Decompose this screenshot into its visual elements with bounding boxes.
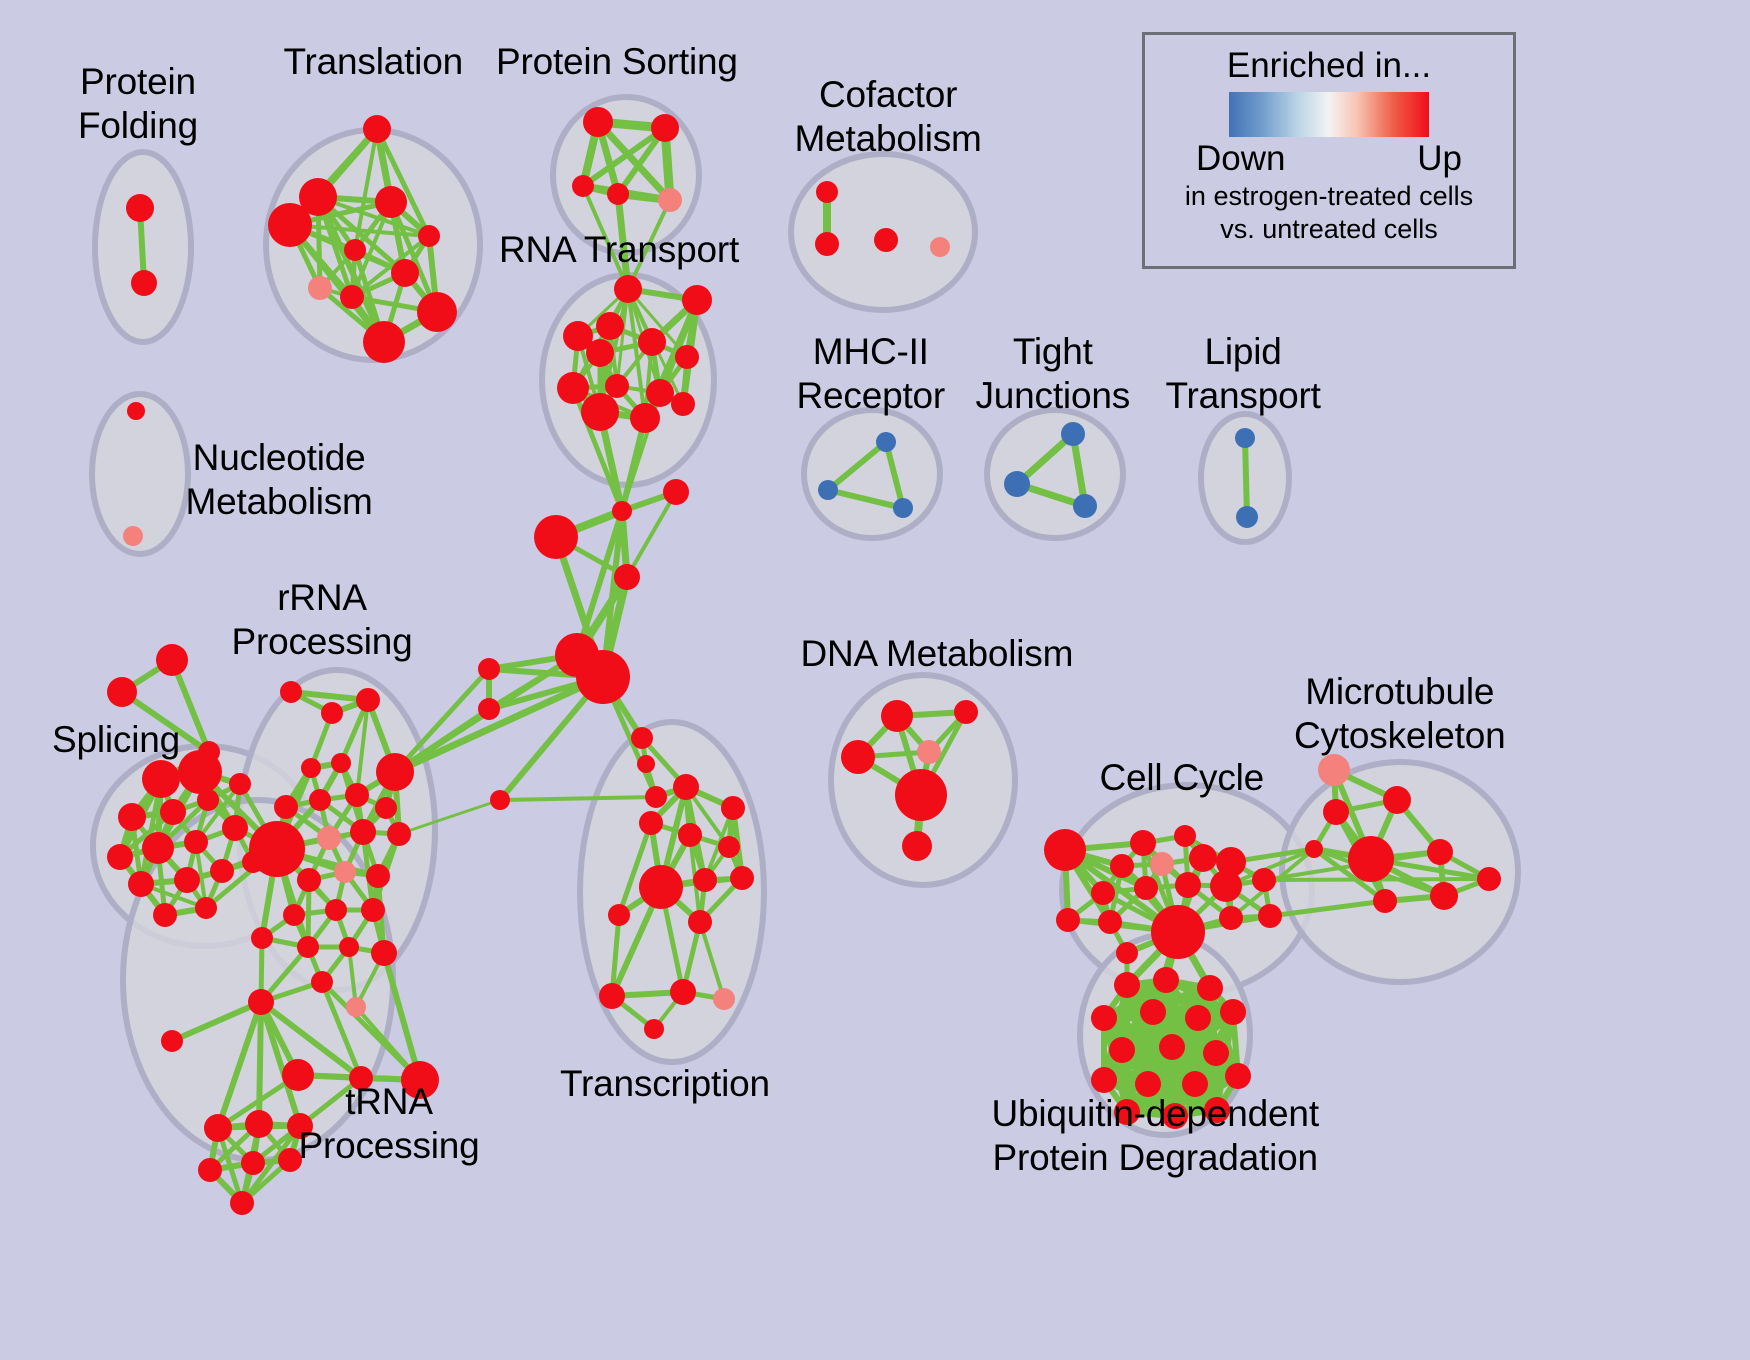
enrichment-map-figure: ProteinFoldingTranslationProtein Sorting… — [0, 0, 1750, 1360]
cluster-label-line: rRNA — [232, 576, 413, 620]
network-node[interactable] — [630, 403, 660, 433]
network-node[interactable] — [841, 740, 875, 774]
network-node[interactable] — [184, 830, 208, 854]
network-node[interactable] — [297, 936, 319, 958]
cluster-label-line: tRNA — [299, 1080, 480, 1124]
cluster-label-line: MHC-II — [797, 330, 946, 374]
cluster-label: Ubiquitin-dependentProtein Degradation — [992, 1092, 1319, 1180]
cluster-label-line: Lipid — [1166, 330, 1321, 374]
network-node[interactable] — [1153, 967, 1179, 993]
network-node[interactable] — [1150, 852, 1174, 876]
network-node[interactable] — [339, 937, 359, 957]
network-node[interactable] — [128, 871, 154, 897]
network-node[interactable] — [673, 774, 699, 800]
network-node[interactable] — [418, 225, 440, 247]
network-node[interactable] — [160, 799, 186, 825]
network-node[interactable] — [1236, 506, 1258, 528]
network-node[interactable] — [366, 864, 390, 888]
network-node[interactable] — [614, 564, 640, 590]
network-node[interactable] — [596, 312, 624, 340]
network-node[interactable] — [675, 345, 699, 369]
network-node[interactable] — [874, 228, 898, 252]
network-node[interactable] — [1427, 839, 1453, 865]
network-node[interactable] — [331, 753, 351, 773]
network-node[interactable] — [345, 783, 369, 807]
network-node[interactable] — [1203, 1040, 1229, 1066]
network-node[interactable] — [274, 795, 298, 819]
network-node[interactable] — [229, 773, 251, 795]
network-node[interactable] — [1305, 840, 1323, 858]
network-node[interactable] — [638, 328, 666, 356]
network-node[interactable] — [317, 826, 341, 850]
network-node[interactable] — [1185, 1005, 1211, 1031]
network-node[interactable] — [1477, 867, 1501, 891]
cluster-label-line: Nucleotide — [186, 436, 373, 480]
network-node[interactable] — [930, 237, 950, 257]
network-node[interactable] — [1130, 830, 1156, 856]
network-node[interactable] — [107, 677, 137, 707]
network-edge[interactable] — [395, 677, 603, 772]
network-node[interactable] — [646, 379, 674, 407]
network-node[interactable] — [583, 107, 613, 137]
network-node[interactable] — [651, 114, 679, 142]
network-node[interactable] — [309, 789, 331, 811]
network-node[interactable] — [376, 753, 414, 791]
cluster-label-line: DNA Metabolism — [801, 632, 1074, 676]
network-node[interactable] — [123, 526, 143, 546]
network-node[interactable] — [417, 292, 457, 332]
network-node[interactable] — [816, 181, 838, 203]
cluster-label-line: Protein Degradation — [992, 1136, 1319, 1180]
network-node[interactable] — [954, 700, 978, 724]
network-node[interactable] — [1235, 428, 1255, 448]
legend-title: Enriched in... — [1227, 46, 1431, 86]
cluster-label-line: Transport — [1166, 374, 1321, 418]
network-node[interactable] — [490, 790, 510, 810]
network-node[interactable] — [391, 259, 419, 287]
cluster-label-line: Protein — [78, 60, 198, 104]
network-node[interactable] — [586, 339, 614, 367]
cluster-label: MHC-IIReceptor — [797, 330, 946, 418]
network-node[interactable] — [818, 480, 838, 500]
network-node[interactable] — [1151, 905, 1205, 959]
network-node[interactable] — [721, 796, 745, 820]
network-node[interactable] — [283, 904, 305, 926]
cluster-label: rRNAProcessing — [232, 576, 413, 664]
network-node[interactable] — [107, 844, 133, 870]
network-node[interactable] — [902, 831, 932, 861]
network-node[interactable] — [1210, 870, 1242, 902]
network-node[interactable] — [1258, 904, 1282, 928]
cluster-label-line: Translation — [284, 40, 463, 84]
legend-subtitle-line2: vs. untreated cells — [1185, 213, 1473, 246]
network-node[interactable] — [1348, 836, 1394, 882]
network-node[interactable] — [321, 702, 343, 724]
network-node[interactable] — [599, 983, 625, 1009]
network-node[interactable] — [713, 988, 735, 1010]
network-node[interactable] — [881, 700, 913, 732]
cluster-label-line: Transcription — [560, 1062, 770, 1106]
cluster-label-line: Processing — [299, 1124, 480, 1168]
network-node[interactable] — [639, 865, 683, 909]
cluster-label: Cell Cycle — [1100, 756, 1265, 800]
network-node[interactable] — [688, 910, 712, 934]
network-node[interactable] — [605, 374, 629, 398]
network-node[interactable] — [325, 899, 347, 921]
cluster-label: DNA Metabolism — [801, 632, 1074, 676]
network-node[interactable] — [195, 897, 217, 919]
network-node[interactable] — [1134, 876, 1158, 900]
network-node[interactable] — [142, 832, 174, 864]
cluster-label-line: Processing — [232, 620, 413, 664]
cluster-label-line: RNA Transport — [499, 228, 739, 272]
network-node[interactable] — [1373, 889, 1397, 913]
network-node[interactable] — [639, 811, 663, 835]
network-node[interactable] — [210, 859, 234, 883]
network-node[interactable] — [534, 515, 578, 559]
cluster-label: MicrotubuleCytoskeleton — [1294, 670, 1506, 758]
network-node[interactable] — [204, 1114, 232, 1142]
cluster-label-line: Splicing — [52, 718, 180, 762]
network-node[interactable] — [375, 797, 397, 819]
network-node[interactable] — [1225, 1063, 1251, 1089]
cluster-hull[interactable] — [987, 410, 1123, 538]
network-node[interactable] — [230, 1191, 254, 1215]
network-node[interactable] — [1220, 999, 1246, 1025]
cluster-label-line: Cofactor — [795, 73, 982, 117]
network-node[interactable] — [1430, 882, 1458, 910]
network-node[interactable] — [1061, 422, 1085, 446]
cluster-label-line: Tight — [976, 330, 1131, 374]
network-node[interactable] — [612, 501, 632, 521]
cluster-label-line: Cytoskeleton — [1294, 714, 1506, 758]
network-node[interactable] — [311, 971, 333, 993]
network-node[interactable] — [356, 688, 380, 712]
network-node[interactable] — [126, 194, 154, 222]
network-node[interactable] — [340, 285, 364, 309]
network-node[interactable] — [1004, 471, 1030, 497]
network-node[interactable] — [371, 940, 397, 966]
network-node[interactable] — [142, 760, 180, 798]
network-node[interactable] — [678, 823, 702, 847]
network-node[interactable] — [350, 819, 376, 845]
network-edge[interactable] — [259, 1002, 261, 1124]
network-node[interactable] — [161, 1030, 183, 1052]
network-node[interactable] — [178, 750, 222, 794]
cluster-label: RNA Transport — [499, 228, 739, 272]
network-node[interactable] — [1175, 872, 1201, 898]
network-node[interactable] — [1318, 754, 1350, 786]
network-node[interactable] — [249, 821, 305, 877]
cluster-label-line: Ubiquitin-dependent — [992, 1092, 1319, 1136]
network-node[interactable] — [682, 285, 712, 315]
network-node[interactable] — [1252, 868, 1276, 892]
cluster-label-line: Junctions — [976, 374, 1131, 418]
network-node[interactable] — [658, 188, 682, 212]
color-scale-bar — [1229, 92, 1429, 137]
network-node[interactable] — [280, 681, 302, 703]
network-node[interactable] — [1091, 1005, 1117, 1031]
legend-up-label: Up — [1417, 139, 1462, 179]
network-node[interactable] — [248, 989, 274, 1015]
network-node[interactable] — [1110, 854, 1134, 878]
network-node[interactable] — [363, 321, 405, 363]
network-node[interactable] — [693, 868, 717, 892]
network-node[interactable] — [1073, 494, 1097, 518]
network-node[interactable] — [645, 786, 667, 808]
network-node[interactable] — [730, 866, 754, 890]
network-node[interactable] — [637, 755, 655, 773]
cluster-label-line: Protein Sorting — [496, 40, 738, 84]
network-node[interactable] — [308, 276, 332, 300]
network-node[interactable] — [174, 867, 200, 893]
cluster-label: Protein Sorting — [496, 40, 738, 84]
cluster-label-line: Receptor — [797, 374, 946, 418]
network-node[interactable] — [344, 239, 366, 261]
network-node[interactable] — [245, 1110, 273, 1138]
network-node[interactable] — [581, 393, 619, 431]
legend-panel: Enriched in... Down Up in estrogen-treat… — [1142, 32, 1516, 269]
cluster-hull[interactable] — [804, 410, 940, 538]
network-node[interactable] — [631, 727, 653, 749]
cluster-label: LipidTransport — [1166, 330, 1321, 418]
network-node[interactable] — [363, 115, 391, 143]
network-node[interactable] — [197, 789, 219, 811]
legend-subtitle: in estrogen-treated cells vs. untreated … — [1185, 180, 1473, 246]
network-node[interactable] — [1159, 1034, 1185, 1060]
network-node[interactable] — [671, 392, 695, 416]
network-node[interactable] — [815, 232, 839, 256]
network-node[interactable] — [1044, 829, 1086, 871]
cluster-label: Translation — [284, 40, 463, 84]
network-node[interactable] — [614, 275, 642, 303]
network-node[interactable] — [478, 658, 500, 680]
network-node[interactable] — [1114, 972, 1140, 998]
cluster-label-line: Metabolism — [186, 480, 373, 524]
network-node[interactable] — [301, 758, 321, 778]
network-node[interactable] — [893, 498, 913, 518]
network-node[interactable] — [917, 740, 941, 764]
cluster-label-line: Metabolism — [795, 117, 982, 161]
cluster-label: CofactorMetabolism — [795, 73, 982, 161]
network-node[interactable] — [1109, 1037, 1135, 1063]
network-node[interactable] — [1197, 975, 1223, 1001]
network-node[interactable] — [153, 903, 177, 927]
network-node[interactable] — [895, 769, 947, 821]
network-node[interactable] — [361, 898, 385, 922]
network-node[interactable] — [1091, 881, 1115, 905]
cluster-label: TightJunctions — [976, 330, 1131, 418]
network-node[interactable] — [131, 270, 157, 296]
network-node[interactable] — [1140, 999, 1166, 1025]
legend-subtitle-line1: in estrogen-treated cells — [1185, 180, 1473, 213]
network-node[interactable] — [1383, 786, 1411, 814]
network-node[interactable] — [387, 822, 411, 846]
network-node[interactable] — [478, 698, 500, 720]
network-node[interactable] — [251, 927, 273, 949]
cluster-label: Splicing — [52, 718, 180, 762]
cluster-label: Transcription — [560, 1062, 770, 1106]
network-node[interactable] — [1056, 908, 1080, 932]
network-edge[interactable] — [1245, 438, 1247, 517]
cluster-label-line: Microtubule — [1294, 670, 1506, 714]
cluster-label: NucleotideMetabolism — [186, 436, 373, 524]
network-node[interactable] — [1174, 825, 1196, 847]
network-node[interactable] — [663, 479, 689, 505]
network-node[interactable] — [876, 432, 896, 452]
network-node[interactable] — [607, 183, 629, 205]
network-node[interactable] — [1323, 799, 1349, 825]
cluster-label: tRNAProcessing — [299, 1080, 480, 1168]
network-node[interactable] — [334, 861, 356, 883]
network-node[interactable] — [1219, 906, 1243, 930]
network-node[interactable] — [156, 644, 188, 676]
network-node[interactable] — [241, 1151, 265, 1175]
network-node[interactable] — [375, 186, 407, 218]
network-node[interactable] — [557, 372, 589, 404]
network-node[interactable] — [346, 997, 366, 1017]
network-node[interactable] — [1098, 910, 1122, 934]
legend-down-label: Down — [1196, 139, 1285, 179]
network-node[interactable] — [118, 803, 146, 831]
network-node[interactable] — [127, 402, 145, 420]
network-node[interactable] — [670, 979, 696, 1005]
network-node[interactable] — [608, 904, 630, 926]
network-node[interactable] — [644, 1019, 664, 1039]
network-node[interactable] — [222, 815, 248, 841]
network-node[interactable] — [198, 1158, 222, 1182]
cluster-label: ProteinFolding — [78, 60, 198, 148]
network-node[interactable] — [1189, 844, 1217, 872]
network-node[interactable] — [1116, 942, 1138, 964]
network-node[interactable] — [572, 175, 594, 197]
network-node[interactable] — [297, 868, 321, 892]
network-node[interactable] — [576, 650, 630, 704]
network-node[interactable] — [1091, 1067, 1117, 1093]
network-node[interactable] — [268, 203, 312, 247]
cluster-label-line: Folding — [78, 104, 198, 148]
cluster-label-line: Cell Cycle — [1100, 756, 1265, 800]
network-node[interactable] — [718, 836, 740, 858]
